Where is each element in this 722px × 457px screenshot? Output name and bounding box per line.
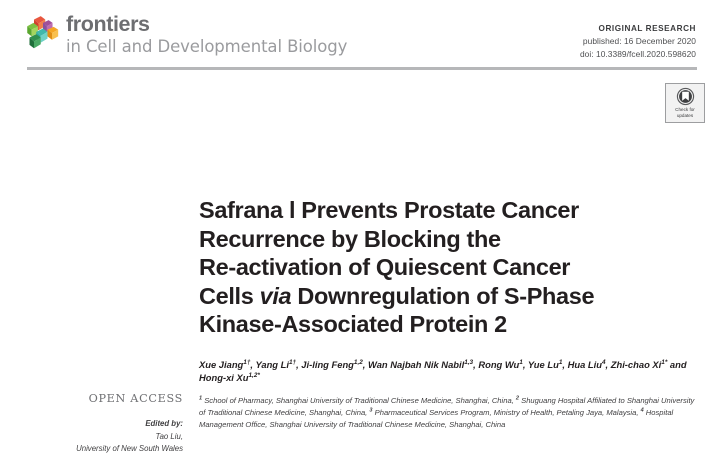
crossmark-circle-icon: [676, 87, 695, 106]
publication-meta: ORIGINAL RESEARCH published: 16 December…: [580, 24, 696, 59]
title-line-5: Kinase-Associated Protein 2: [199, 311, 507, 337]
journal-brand: frontiers in Cell and Developmental Biol…: [26, 13, 347, 55]
article-type-label: ORIGINAL RESEARCH: [580, 24, 696, 33]
author-name: Xue Jiang1†: [199, 359, 250, 370]
author-affiliation-marker: 1,2: [354, 358, 363, 365]
author-name: Wan Najbah Nik Nabil1,3: [368, 359, 473, 370]
edited-by-label: Edited by:: [0, 419, 183, 428]
brand-subtitle: in Cell and Developmental Biology: [66, 39, 347, 56]
author-name: Yue Lu1: [528, 359, 562, 370]
author-name: Rong Wu1: [478, 359, 523, 370]
doi-link[interactable]: doi: 10.3389/fcell.2020.598620: [580, 49, 696, 59]
editor-name: Tao Liu,: [0, 432, 183, 441]
author-name: Zhi-chao Xi1*: [611, 359, 668, 370]
article-title: Safrana l Prevents Prostate Cancer Recur…: [199, 196, 699, 339]
author-name: Hua Liu4: [568, 359, 606, 370]
article-block: Safrana l Prevents Prostate Cancer Recur…: [199, 196, 699, 430]
author-affiliation-marker: 1,2*: [248, 372, 259, 379]
title-line-3: Re-activation of Quiescent Cancer: [199, 254, 570, 280]
open-access-label: OPEN ACCESS: [0, 392, 183, 405]
frontiers-cubes-logo-icon: [26, 15, 60, 51]
author-affiliation-marker: 1†: [289, 358, 296, 365]
header-divider: [27, 67, 697, 70]
author-name: Hong-xi Xu1,2*: [199, 372, 260, 383]
author-name: Ji-ling Feng1,2: [301, 359, 363, 370]
published-date: published: 16 December 2020: [580, 36, 696, 46]
brand-text: frontiers in Cell and Developmental Biol…: [66, 13, 347, 55]
author-affiliation-marker: 1*: [661, 358, 667, 365]
affiliation-text: Pharmaceutical Services Program, Ministr…: [373, 408, 639, 417]
check-for-updates-button[interactable]: Check for updates: [665, 83, 705, 123]
author-affiliation-marker: 1: [519, 358, 523, 365]
title-line-1: Safrana l Prevents Prostate Cancer: [199, 197, 579, 223]
affiliation-list: 1 School of Pharmacy, Shanghai Universit…: [199, 395, 699, 430]
editor-affiliation: University of New South Wales: [0, 444, 183, 453]
affiliation-text: School of Pharmacy, Shanghai University …: [202, 396, 514, 405]
author-affiliation-marker: 1,3: [464, 358, 473, 365]
left-sidebar: OPEN ACCESS Edited by: Tao Liu, Universi…: [0, 392, 183, 453]
author-affiliation-marker: 4: [602, 358, 606, 365]
title-line-4-part-a: Cells: [199, 283, 260, 309]
author-name: Yang Li1†: [255, 359, 296, 370]
title-line-4-part-b: Downregulation of S-Phase: [291, 283, 594, 309]
author-list: Xue Jiang1†, Yang Li1†, Ji-ling Feng1,2,…: [199, 358, 699, 385]
title-line-4-italic-word: via: [260, 283, 292, 309]
title-line-2: Recurrence by Blocking the: [199, 226, 501, 252]
brand-name: frontiers: [66, 14, 347, 36]
check-for-updates-label: Check for updates: [675, 107, 695, 118]
page-header: frontiers in Cell and Developmental Biol…: [0, 0, 722, 70]
author-affiliation-marker: 1†: [243, 358, 250, 365]
author-affiliation-marker: 1: [559, 358, 563, 365]
